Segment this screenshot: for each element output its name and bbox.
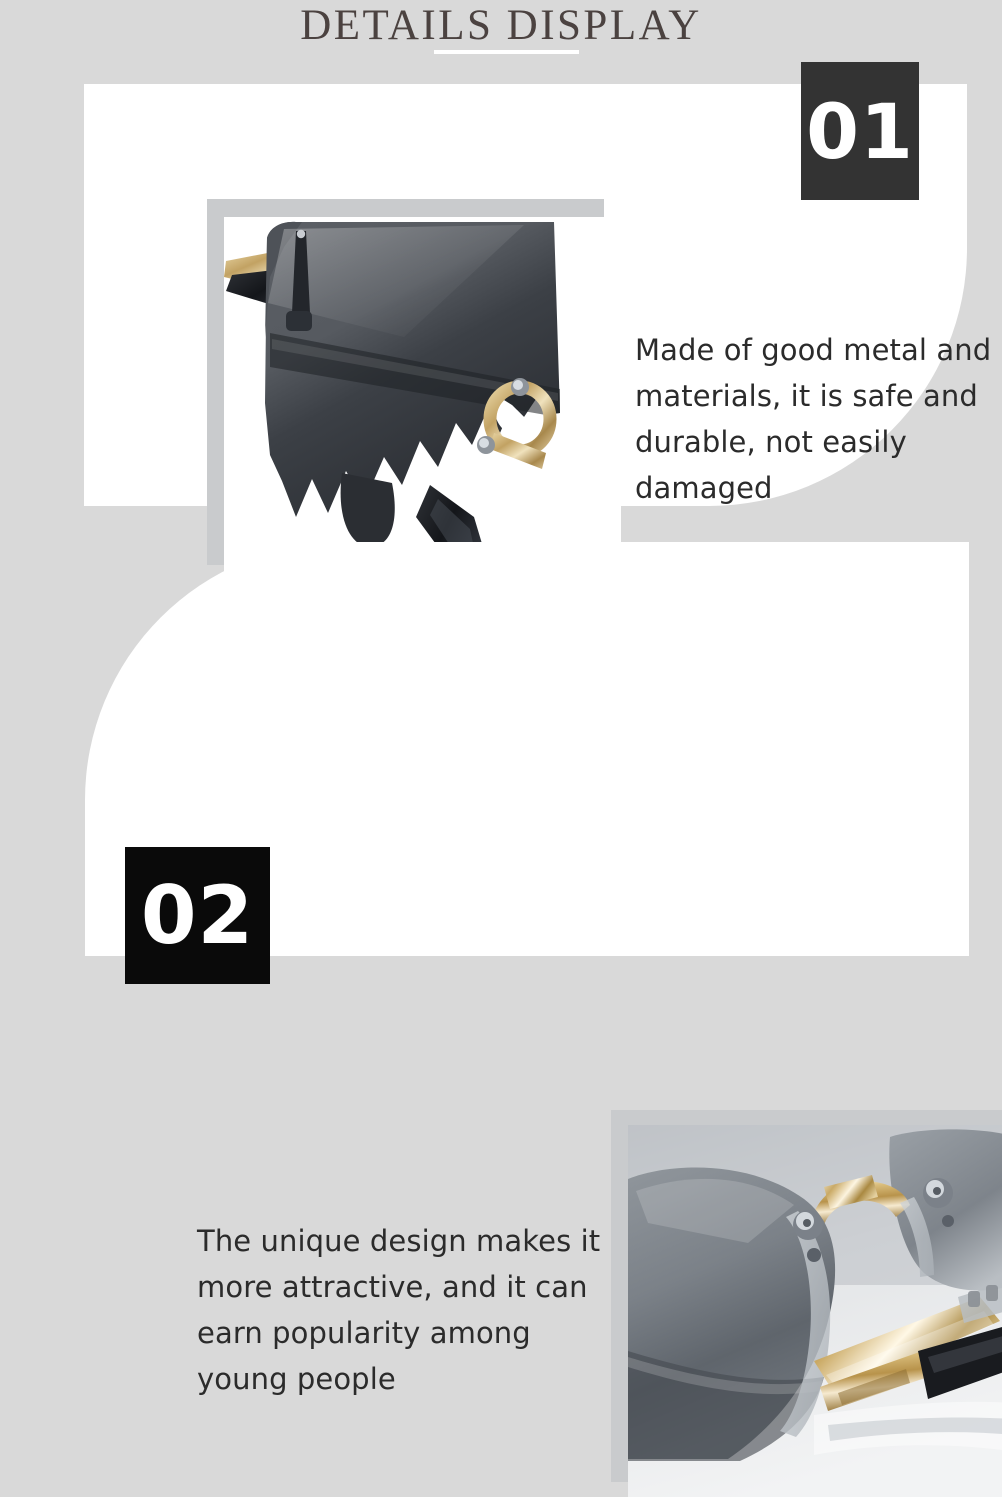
page-title: DETAILS DISPLAY	[0, 2, 1002, 50]
step-badge-1: 01	[801, 62, 919, 200]
detail-display-page: DETAILS DISPLAY	[0, 0, 1002, 1002]
title-underline	[434, 50, 579, 54]
detail-description-1: Made of good metal and PC materials, it …	[635, 327, 1002, 511]
sunglasses-batwing-illustration	[224, 217, 621, 583]
product-photo-1	[224, 217, 621, 583]
product-photo-frame-2	[611, 1110, 1002, 1482]
product-photo-2	[628, 1125, 1002, 1497]
step-badge-2: 02	[125, 847, 270, 984]
sunglasses-bridge-illustration	[628, 1125, 1002, 1497]
detail-description-2: The unique design makes it more attracti…	[197, 1218, 627, 1402]
product-photo-frame-1	[207, 199, 604, 565]
